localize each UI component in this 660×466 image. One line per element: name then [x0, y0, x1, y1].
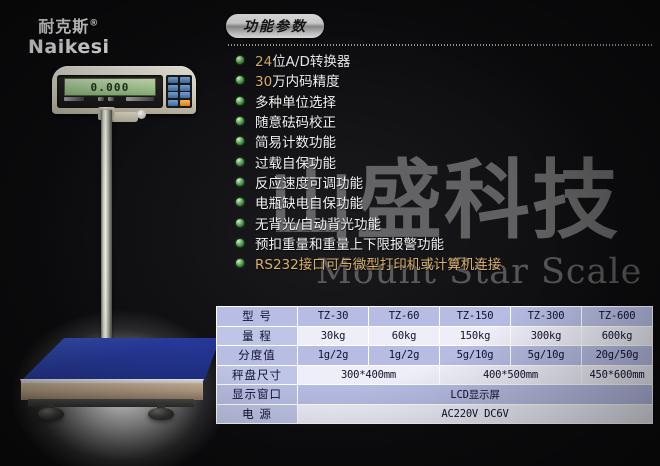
- feature-item: RS232接口可与微型打印机或计算机连接: [236, 253, 656, 273]
- table-cell: 600kg: [582, 326, 653, 346]
- feature-item-number: 24: [255, 54, 272, 70]
- product-spec-image: 山盛科技 Mount Star Scale 耐克斯® Naikesi 0.000: [0, 0, 660, 466]
- table-row: 电 源AC220V DC6V: [217, 404, 653, 424]
- keypad-key: [180, 92, 190, 98]
- lcd-display: 0.000: [64, 78, 156, 96]
- table-row: 显示窗口LCD显示屏: [217, 385, 653, 405]
- table-row-label: 电 源: [217, 404, 298, 424]
- table-cell: 400*500mm: [440, 365, 582, 385]
- indicator-faceplate: 0.000: [57, 75, 163, 108]
- feature-item-label: 30万内码精度: [255, 70, 340, 90]
- bullet-icon: [236, 219, 244, 227]
- table-row-label: 秤盘尺寸: [217, 365, 298, 385]
- keypad-key: [168, 92, 178, 98]
- specification-table: 型 号TZ-30TZ-60TZ-150TZ-300TZ-600量 程30kg60…: [216, 306, 653, 424]
- bullet-icon: [236, 117, 244, 125]
- table-cell: 5g/10g: [440, 346, 511, 366]
- platform-surface: [20, 338, 220, 382]
- feature-item: 24位A/D转换器: [236, 50, 656, 70]
- bullet-icon: [236, 97, 244, 105]
- lcd-value: 0.000: [90, 81, 129, 94]
- keypad-key: [168, 77, 178, 83]
- feature-item-number: 30: [255, 74, 272, 90]
- bullet-icon: [236, 56, 244, 64]
- section-badge-features: 功能参数: [226, 14, 324, 38]
- specification-table-body: 型 号TZ-30TZ-60TZ-150TZ-300TZ-600量 程30kg60…: [217, 307, 653, 424]
- adjustable-foot: [38, 404, 64, 420]
- table-cell: TZ-30: [298, 307, 369, 327]
- feature-item-label: 多种单位选择: [255, 91, 336, 111]
- feature-item: 电瓶缺电自保功能: [236, 192, 656, 212]
- dotted-divider: [228, 44, 652, 46]
- mount-knob-right: [137, 110, 146, 119]
- table-row-label: 型 号: [217, 307, 298, 327]
- feature-item: 过载自保功能: [236, 151, 656, 171]
- feature-item: 30万内码精度: [236, 70, 656, 90]
- bullet-icon: [236, 198, 244, 206]
- table-cell: TZ-60: [369, 307, 440, 327]
- keypad-key: [180, 77, 190, 83]
- feature-item-label: 无背光/自动背光功能: [255, 213, 381, 233]
- table-row: 量 程30kg60kg150kg300kg600kg: [217, 326, 653, 346]
- feature-item-label: 电瓶缺电自保功能: [255, 192, 363, 212]
- table-row-label: 量 程: [217, 326, 298, 346]
- table-cell: TZ-600: [582, 307, 653, 327]
- foot-pad: [38, 408, 64, 420]
- table-cell: 20g/50g: [582, 346, 653, 366]
- table-cell: 450*600mm: [582, 365, 653, 385]
- table-row: 分度值1g/2g1g/2g5g/10g5g/10g20g/50g: [217, 346, 653, 366]
- table-cell: 1g/2g: [369, 346, 440, 366]
- table-row-label: 分度值: [217, 346, 298, 366]
- feature-item: 预扣重量和重量上下限报警功能: [236, 233, 656, 253]
- table-cell: AC220V DC6V: [298, 404, 653, 424]
- feature-item: 反应速度可调功能: [236, 172, 656, 192]
- table-cell: 300*400mm: [298, 365, 440, 385]
- table-cell: TZ-300: [511, 307, 582, 327]
- table-cell: 1g/2g: [298, 346, 369, 366]
- table-cell: TZ-150: [440, 307, 511, 327]
- feature-item-label: 随意砝码校正: [255, 111, 336, 131]
- keypad-key-power: [180, 100, 190, 106]
- table-cell: 5g/10g: [511, 346, 582, 366]
- table-cell: LCD显示屏: [298, 385, 653, 405]
- foot-pad: [148, 408, 174, 420]
- section-badge-label: 功能参数: [243, 16, 307, 36]
- table-cell: 150kg: [440, 326, 511, 346]
- feature-item-label: 过载自保功能: [255, 152, 336, 172]
- bullet-icon: [236, 158, 244, 166]
- keypad-key: [180, 85, 190, 91]
- feature-item-label: 24位A/D转换器: [255, 50, 350, 70]
- table-cell: 60kg: [369, 326, 440, 346]
- feature-item: 多种单位选择: [236, 91, 656, 111]
- table-row: 秤盘尺寸300*400mm400*500mm450*600mm: [217, 365, 653, 385]
- feature-item: 简易计数功能: [236, 131, 656, 151]
- table-cell: 30kg: [298, 326, 369, 346]
- table-row: 型 号TZ-30TZ-60TZ-150TZ-300TZ-600: [217, 307, 653, 327]
- keypad: [166, 75, 192, 108]
- bullet-icon: [236, 76, 244, 84]
- support-pole: [101, 110, 112, 358]
- faceplate-labels: [64, 97, 156, 105]
- feature-item-label: 简易计数功能: [255, 131, 336, 151]
- keypad-key: [168, 100, 178, 106]
- adjustable-foot: [148, 404, 174, 420]
- feature-item-label: RS232接口可与微型打印机或计算机连接: [255, 253, 501, 273]
- feature-item: 随意砝码校正: [236, 111, 656, 131]
- table-row-label: 显示窗口: [217, 385, 298, 405]
- product-photo: 0.000: [0, 0, 240, 466]
- table-cell: 300kg: [511, 326, 582, 346]
- bullet-icon: [236, 137, 244, 145]
- feature-list: 24位A/D转换器30万内码精度多种单位选择随意砝码校正简易计数功能过载自保功能…: [236, 50, 656, 273]
- bullet-icon: [236, 239, 244, 247]
- feature-item: 无背光/自动背光功能: [236, 212, 656, 232]
- feature-item-label: 反应速度可调功能: [255, 172, 363, 192]
- platform-frame: [21, 382, 203, 400]
- feature-item-label: 预扣重量和重量上下限报警功能: [255, 233, 444, 253]
- keypad-key: [168, 85, 178, 91]
- indicator-head: 0.000: [52, 66, 196, 122]
- bullet-icon: [236, 259, 244, 267]
- bullet-icon: [236, 178, 244, 186]
